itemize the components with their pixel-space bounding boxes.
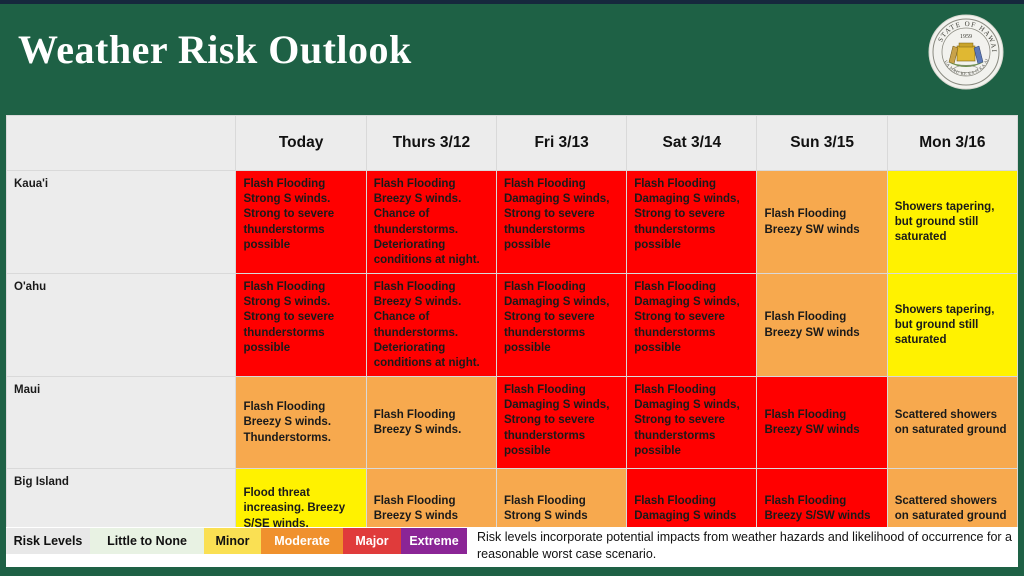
slide-root: Weather Risk Outlook STATE OF HAWAII 195… bbox=[0, 0, 1024, 576]
table-row: O'ahu Flash Flooding Strong S winds. Str… bbox=[7, 274, 1018, 377]
risk-cell: Flash Flooding Breezy SW winds bbox=[757, 171, 887, 274]
legend-item-extreme: Extreme bbox=[401, 528, 467, 554]
risk-cell: Flash Flooding Strong S winds. Strong to… bbox=[236, 274, 366, 377]
svg-text:1959: 1959 bbox=[960, 34, 972, 40]
row-label-kauai: Kaua'i bbox=[7, 171, 236, 274]
risk-cell: Flash Flooding Breezy S winds. bbox=[366, 377, 496, 469]
risk-legend: Risk Levels Little to None Minor Moderat… bbox=[6, 527, 1018, 567]
risk-cell: Flash Flooding Breezy S winds. Chance of… bbox=[366, 171, 496, 274]
table-corner-cell bbox=[7, 116, 236, 171]
table-header-row: Today Thurs 3/12 Fri 3/13 Sat 3/14 Sun 3… bbox=[7, 116, 1018, 171]
table-row: Kaua'i Flash Flooding Strong S winds. St… bbox=[7, 171, 1018, 274]
row-label-maui: Maui bbox=[7, 377, 236, 469]
row-label-oahu: O'ahu bbox=[7, 274, 236, 377]
risk-cell: Flash Flooding Strong S winds. Strong to… bbox=[236, 171, 366, 274]
risk-cell: Showers tapering, but ground still satur… bbox=[887, 274, 1017, 377]
legend-note: Risk levels incorporate potential impact… bbox=[467, 527, 1018, 563]
top-accent-strip bbox=[0, 0, 1024, 4]
column-header-mon: Mon 3/16 bbox=[887, 116, 1017, 171]
risk-cell: Flash Flooding Breezy S winds. Thunderst… bbox=[236, 377, 366, 469]
risk-cell: Flash Flooding Damaging S winds, Strong … bbox=[627, 274, 757, 377]
state-of-hawaii-seal: STATE OF HAWAII 1959 UA MAU KE EA O KA A… bbox=[926, 12, 1006, 92]
risk-cell: Flash Flooding Damaging S winds, Strong … bbox=[496, 171, 626, 274]
column-header-today: Today bbox=[236, 116, 366, 171]
risk-cell: Flash Flooding Damaging S winds, Strong … bbox=[496, 274, 626, 377]
legend-item-little-to-none: Little to None bbox=[90, 528, 204, 554]
table-body: Kaua'i Flash Flooding Strong S winds. St… bbox=[7, 171, 1018, 549]
risk-cell: Showers tapering, but ground still satur… bbox=[887, 171, 1017, 274]
legend-title: Risk Levels bbox=[6, 528, 90, 554]
risk-cell: Flash Flooding Breezy SW winds bbox=[757, 377, 887, 469]
page-title: Weather Risk Outlook bbox=[18, 26, 412, 73]
column-header-thurs: Thurs 3/12 bbox=[366, 116, 496, 171]
risk-cell: Flash Flooding Damaging S winds, Strong … bbox=[496, 377, 626, 469]
bottom-accent-strip bbox=[0, 567, 1024, 576]
legend-item-major: Major bbox=[343, 528, 401, 554]
legend-item-moderate: Moderate bbox=[261, 528, 343, 554]
legend-item-minor: Minor bbox=[204, 528, 261, 554]
table-row: Maui Flash Flooding Breezy S winds. Thun… bbox=[7, 377, 1018, 469]
weather-risk-table: Today Thurs 3/12 Fri 3/13 Sat 3/14 Sun 3… bbox=[6, 115, 1018, 527]
column-header-sat: Sat 3/14 bbox=[627, 116, 757, 171]
risk-cell: Flash Flooding Breezy SW winds bbox=[757, 274, 887, 377]
column-header-sun: Sun 3/15 bbox=[757, 116, 887, 171]
risk-cell: Flash Flooding Damaging S winds, Strong … bbox=[627, 171, 757, 274]
column-header-fri: Fri 3/13 bbox=[496, 116, 626, 171]
risk-cell: Scattered showers on saturated ground bbox=[887, 377, 1017, 469]
risk-cell: Flash Flooding Breezy S winds. Chance of… bbox=[366, 274, 496, 377]
risk-cell: Flash Flooding Damaging S winds, Strong … bbox=[627, 377, 757, 469]
